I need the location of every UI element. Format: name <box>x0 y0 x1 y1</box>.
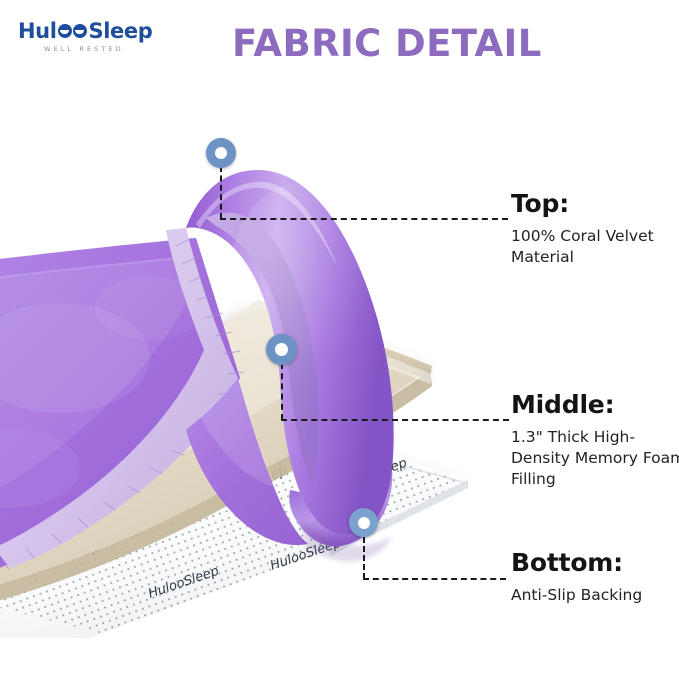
leader-top-horizontal <box>220 218 508 220</box>
marker-hole-icon <box>275 343 288 356</box>
leader-middle-horizontal <box>281 419 509 421</box>
callout-bottom-heading: Bottom: <box>511 548 679 578</box>
leader-bottom-horizontal <box>363 578 506 580</box>
brand-wordmark-part2: Sleep <box>89 20 153 42</box>
brand-wordmark-part1: Hul <box>18 20 57 42</box>
product-illustration: HulooSleep HulooSleep HulooSleep HulooSl… <box>0 78 470 638</box>
callout-middle: Middle: 1.3" Thick High-Density Memory F… <box>511 390 679 490</box>
callout-top-body: 100% Coral Velvet Material <box>511 226 679 268</box>
eye-left-icon <box>58 24 72 38</box>
eye-right-icon <box>73 24 87 38</box>
callout-marker-bottom[interactable] <box>349 508 378 537</box>
brand-logo: Hul Sleep WELL RESTED <box>18 20 178 58</box>
leader-bottom-vertical <box>363 537 365 579</box>
leader-top-vertical <box>220 166 222 219</box>
callout-marker-top[interactable] <box>206 138 236 168</box>
infographic-canvas: Hul Sleep WELL RESTED FABRIC DETAIL <box>0 0 679 679</box>
callout-marker-middle[interactable] <box>266 334 297 365</box>
marker-hole-icon <box>358 517 370 529</box>
callout-top-heading: Top: <box>511 189 679 219</box>
callout-bottom: Bottom: Anti-Slip Backing <box>511 548 679 606</box>
page-title: FABRIC DETAIL <box>232 22 562 66</box>
sleeping-eyes-icon <box>58 22 88 40</box>
callout-middle-body: 1.3" Thick High-Density Memory Foam Fill… <box>511 427 679 490</box>
callout-bottom-body: Anti-Slip Backing <box>511 585 679 606</box>
brand-tagline: WELL RESTED <box>44 45 178 53</box>
callout-top: Top: 100% Coral Velvet Material <box>511 189 679 268</box>
leader-middle-vertical <box>281 363 283 420</box>
callout-middle-heading: Middle: <box>511 390 679 420</box>
brand-wordmark: Hul Sleep <box>18 20 178 42</box>
marker-hole-icon <box>215 147 227 159</box>
